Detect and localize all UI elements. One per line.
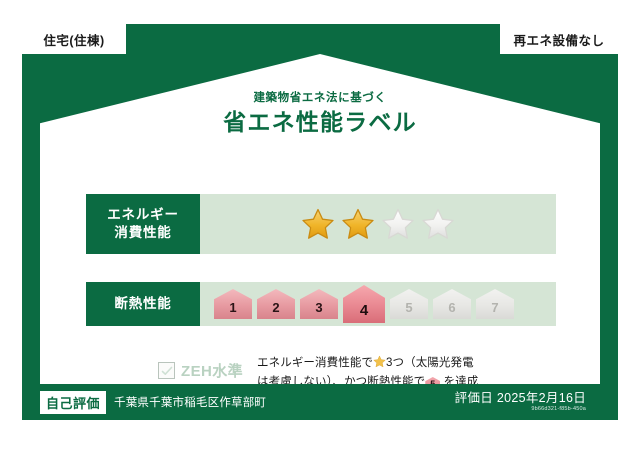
footer-address: 千葉県千葉市稲毛区作草部町 bbox=[114, 394, 266, 410]
insulation-level-badge-6: 6 bbox=[433, 289, 471, 319]
star-icon-filled bbox=[301, 207, 335, 241]
metric-row-insulation: 断熱性能 1234567 bbox=[86, 282, 556, 326]
badge-renewable-energy: 再エネ設備なし bbox=[500, 24, 618, 54]
star-icon-filled bbox=[341, 207, 375, 241]
insulation-level-badge-1: 1 bbox=[214, 289, 252, 319]
insulation-level-badge-5: 5 bbox=[390, 289, 428, 319]
star-icon-inline bbox=[373, 355, 386, 368]
zeh-desc-line1-pre: エネルギー消費性能で bbox=[257, 357, 373, 369]
energy-star-rating bbox=[200, 194, 556, 254]
insulation-level-badge-3: 3 bbox=[300, 289, 338, 319]
metric-label-insulation: 断熱性能 bbox=[86, 282, 200, 326]
zeh-marker: ZEH水準 bbox=[158, 354, 243, 381]
star-icon-empty bbox=[421, 207, 455, 241]
footer-evaluation-info: 評価日 2025年2月16日 9b66d321-f85b-450a bbox=[455, 392, 600, 413]
metric-label-energy-line1: エネルギー bbox=[107, 206, 179, 224]
label-footer: 自己評価 千葉県千葉市稲毛区作草部町 評価日 2025年2月16日 9b66d3… bbox=[22, 384, 618, 420]
insulation-level-badge-7: 7 bbox=[476, 289, 514, 319]
badge-building-type: 住宅(住棟) bbox=[22, 24, 126, 54]
zeh-desc-line1-post: 3つ（太陽光発電 bbox=[386, 357, 474, 369]
house-body-panel: 建築物省エネ法に基づく 省エネ性能ラベル エネルギー 消費性能 断熱性能 123… bbox=[40, 54, 600, 384]
title-main: 省エネ性能ラベル bbox=[40, 108, 600, 137]
metric-label-energy: エネルギー 消費性能 bbox=[86, 194, 200, 254]
metric-row-energy: エネルギー 消費性能 bbox=[86, 194, 556, 254]
insulation-level-badge-4: 4 bbox=[343, 285, 385, 323]
evaluation-date: 評価日 2025年2月16日 bbox=[455, 392, 586, 406]
checkmark-icon bbox=[161, 365, 173, 377]
self-evaluation-badge: 自己評価 bbox=[40, 391, 106, 414]
zeh-checkbox[interactable] bbox=[158, 362, 175, 379]
title-subtitle: 建築物省エネ法に基づく bbox=[40, 92, 600, 106]
badge-renewable-energy-label: 再エネ設備なし bbox=[513, 30, 604, 49]
metric-label-insulation-line1: 断熱性能 bbox=[114, 295, 171, 313]
energy-performance-label: 住宅(住棟) 再エネ設備なし 建築物省エネ法に基づく 省エネ性能ラベル エネルギ… bbox=[22, 24, 618, 420]
metric-label-energy-line2: 消費性能 bbox=[114, 224, 171, 242]
insulation-level-badge-2: 2 bbox=[257, 289, 295, 319]
insulation-level-scale: 1234567 bbox=[200, 282, 556, 326]
star-icon-empty bbox=[381, 207, 415, 241]
evaluation-id: 9b66d321-f85b-450a bbox=[455, 406, 586, 412]
zeh-label: ZEH水準 bbox=[181, 360, 243, 381]
badge-building-type-label: 住宅(住棟) bbox=[43, 30, 104, 49]
label-title-block: 建築物省エネ法に基づく 省エネ性能ラベル bbox=[40, 92, 600, 137]
